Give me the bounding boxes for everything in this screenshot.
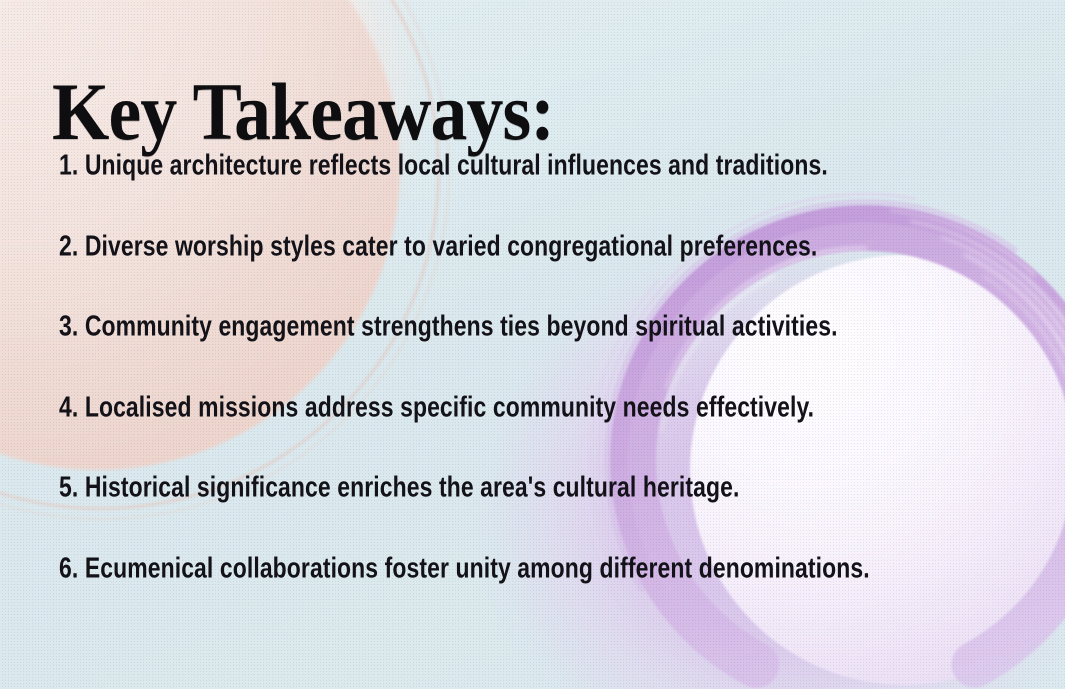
- list-item: 3. Community engagement strengthens ties…: [59, 313, 1018, 342]
- list-item: 5. Historical significance enriches the …: [59, 474, 1018, 503]
- slide-content: Key Takeaways: 1. Unique architecture re…: [0, 0, 1065, 689]
- list-item: 1. Unique architecture reflects local cu…: [59, 152, 1018, 181]
- list-item: 4. Localised missions address specific c…: [59, 394, 1018, 423]
- page-title: Key Takeaways:: [52, 69, 554, 155]
- key-takeaways-slide: Key Takeaways: 1. Unique architecture re…: [0, 0, 1065, 689]
- takeaways-list: 1. Unique architecture reflects local cu…: [59, 152, 999, 578]
- list-item: 2. Diverse worship styles cater to varie…: [59, 233, 1018, 262]
- list-item: 6. Ecumenical collaborations foster unit…: [59, 555, 1018, 584]
